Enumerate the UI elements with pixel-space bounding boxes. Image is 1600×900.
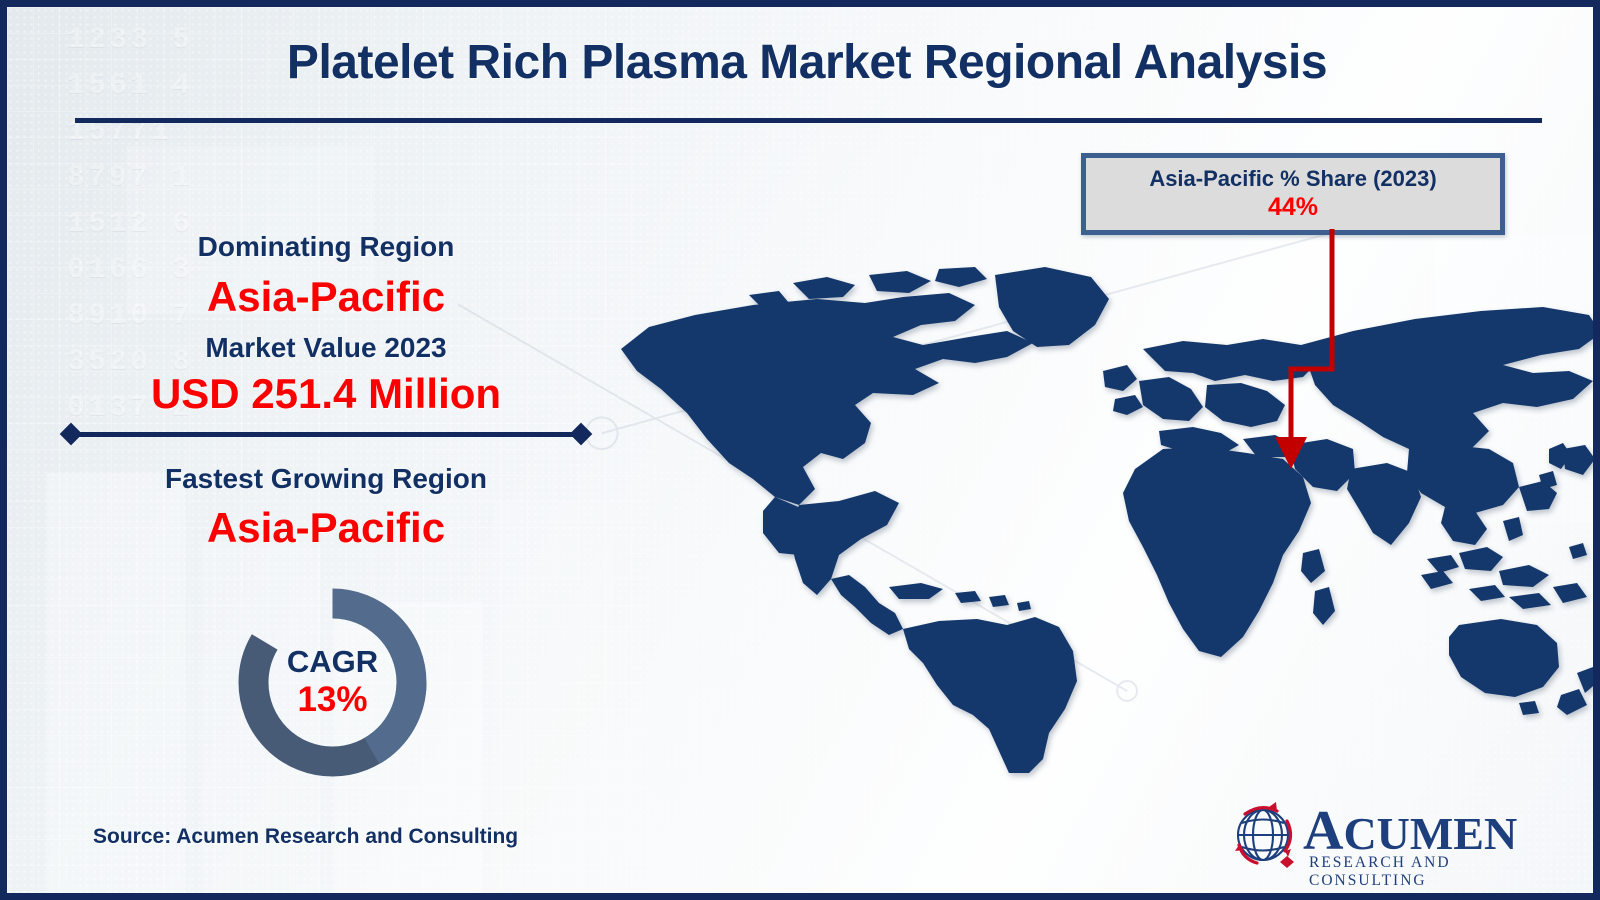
dominating-region-value: Asia-Pacific (46, 273, 606, 321)
acumen-logo[interactable]: ACUMEN RESEARCH AND CONSULTING (1229, 797, 1539, 877)
infographic-canvas: 1233 5 1561 4 15771 8797 1 1512 6 0166 3… (0, 0, 1600, 900)
panel-divider-line (77, 432, 577, 437)
cagr-center-text: CAGR 13% (230, 580, 435, 785)
title-divider (75, 118, 1542, 123)
logo-name-rest: CUMEN (1343, 808, 1517, 859)
fastest-growing-region-value: Asia-Pacific (46, 504, 606, 552)
dominating-region-label: Dominating Region (46, 231, 606, 263)
logo-initial: A (1303, 800, 1343, 862)
globe-icon (1229, 799, 1303, 873)
divider-diamond-right-icon (570, 423, 593, 446)
logo-wordmark: ACUMEN (1303, 803, 1517, 859)
market-value-label: Market Value 2023 (46, 332, 606, 364)
page-title: Platelet Rich Plasma Market Regional Ana… (7, 35, 1600, 90)
callout-title: Asia-Pacific % Share (2023) (1149, 166, 1436, 191)
source-text: Source: Acumen Research and Consulting (93, 825, 518, 849)
cagr-value: 13% (297, 681, 367, 720)
asia-pacific-share-callout: Asia-Pacific % Share (2023) 44% (1081, 153, 1505, 235)
divider-diamond-left-icon (60, 423, 83, 446)
world-map (603, 253, 1600, 773)
callout-value: 44% (1268, 193, 1318, 222)
cagr-donut-chart: CAGR 13% (230, 580, 435, 785)
fastest-growing-region-label: Fastest Growing Region (46, 463, 606, 495)
cagr-label: CAGR (287, 646, 378, 679)
logo-tagline: RESEARCH AND CONSULTING (1309, 854, 1539, 890)
market-value-amount: USD 251.4 Million (46, 370, 606, 418)
